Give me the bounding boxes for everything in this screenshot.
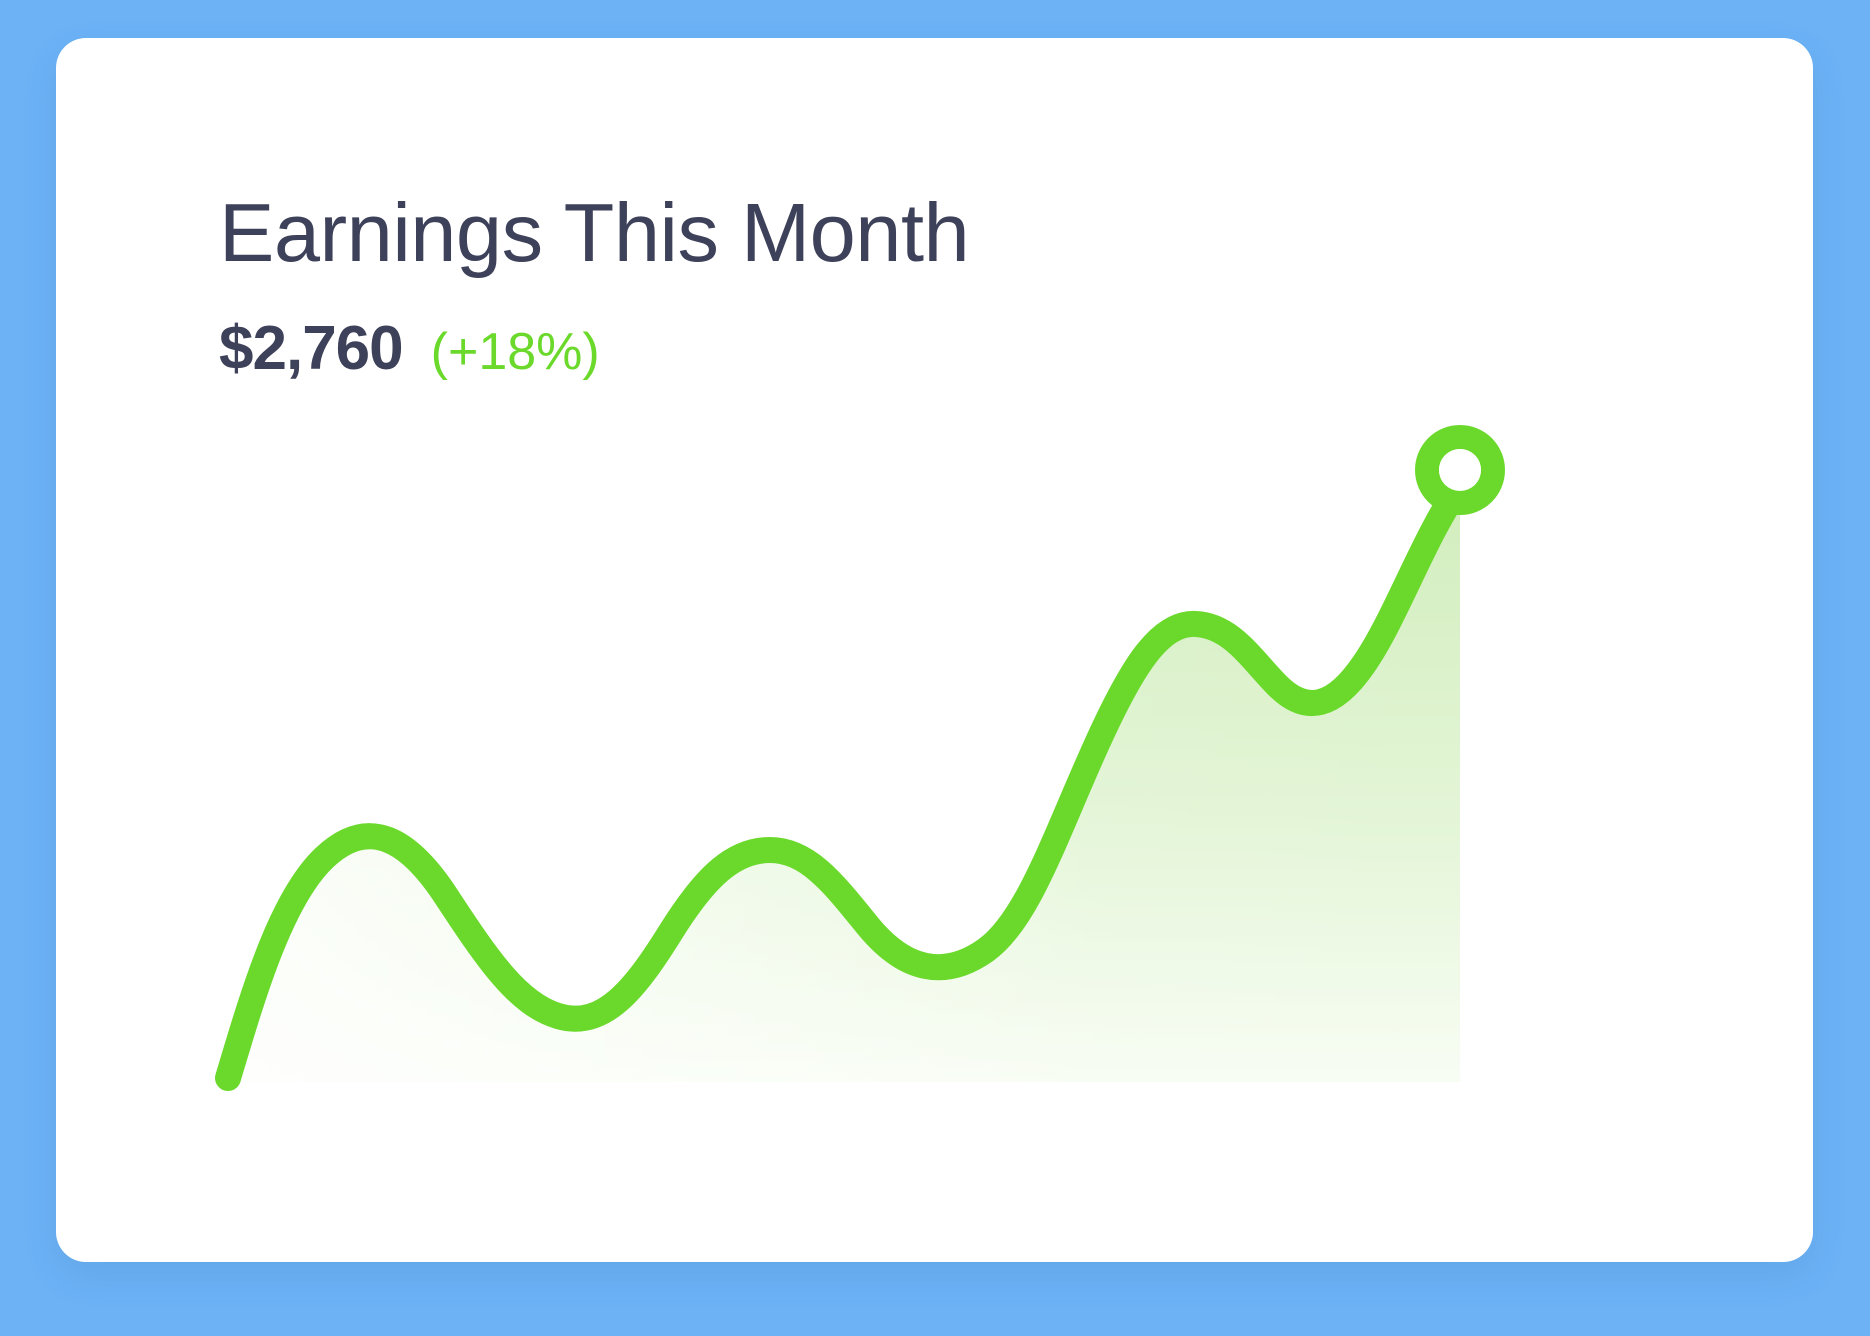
metric-row: $2,760 (+18%) bbox=[219, 318, 1619, 380]
metric-value: $2,760 bbox=[219, 318, 403, 380]
chart-area-fill-group bbox=[228, 486, 1460, 1082]
page-title: Earnings This Month bbox=[219, 188, 1619, 278]
chart-endpoint-marker-center bbox=[1439, 449, 1481, 491]
earnings-card: Earnings This Month $2,760 (+18%) bbox=[56, 38, 1813, 1262]
chart-area-fill-highlight bbox=[228, 486, 1460, 1082]
card-header: Earnings This Month $2,760 (+18%) bbox=[219, 188, 1619, 380]
metric-delta-badge: (+18%) bbox=[431, 326, 600, 378]
